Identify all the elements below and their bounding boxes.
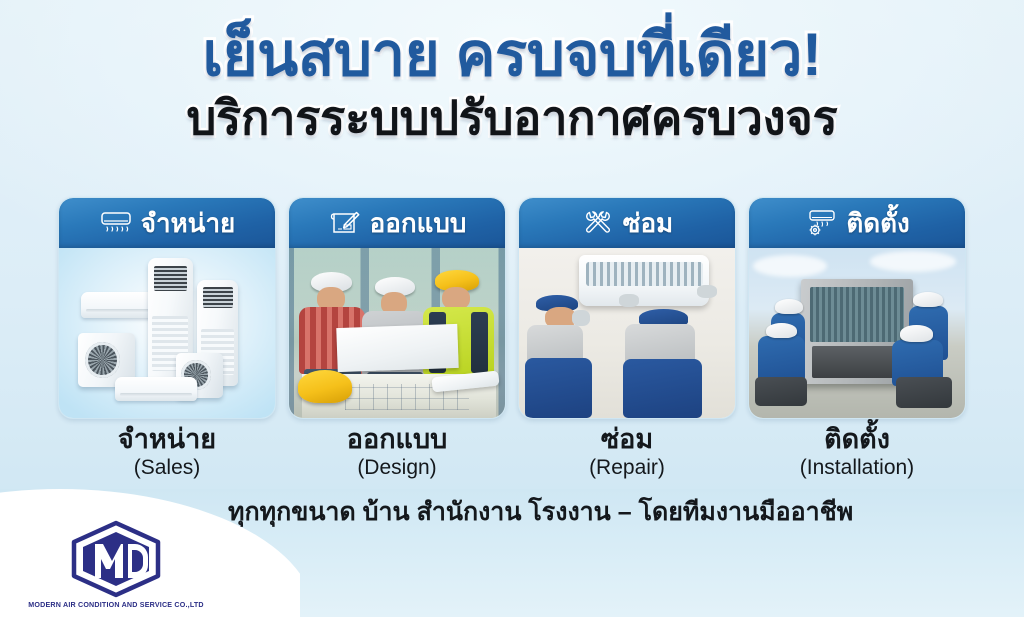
air-conditioner-gear-icon [804,208,838,238]
card-header-repair: ซ่อม [519,198,735,248]
service-card-installation[interactable]: ติดตั้ง [748,197,966,419]
card-header-design: ออกแบบ [289,198,505,248]
service-card-row: จำหน่าย [58,197,966,419]
company-name: MODERN AIR CONDITION AND SERVICE CO.,LTD [23,600,209,609]
caption-design: ออกแบบ (Design) [288,424,506,480]
caption-thai: ซ่อม [518,424,736,454]
caption-installation: ติดตั้ง (Installation) [748,424,966,480]
caption-row: จำหน่าย (Sales) ออกแบบ (Design) ซ่อม (Re… [58,424,966,480]
md-hexagon-logo-icon [18,520,214,598]
caption-sales: จำหน่าย (Sales) [58,424,276,480]
card-photo-repair [519,248,735,418]
card-header-label: ออกแบบ [370,210,467,236]
card-photo-installation [749,248,965,418]
company-logo: MODERN AIR CONDITION AND SERVICE CO.,LTD [18,520,214,609]
service-card-design[interactable]: ออกแบบ [288,197,506,419]
card-photo-design [289,248,505,418]
card-header-label: จำหน่าย [141,210,236,236]
blueprint-pencil-icon [328,208,362,238]
promotional-banner: เย็นสบาย ครบจบที่เดียว! บริการระบบปรับอา… [0,0,1024,617]
card-header-sales: จำหน่าย [59,198,275,248]
card-header-label: ซ่อม [623,210,673,236]
headline-primary: เย็นสบาย ครบจบที่เดียว! [0,24,1024,85]
caption-thai: จำหน่าย [58,424,276,454]
footer-tagline: ทุกทุกขนาด บ้าน สำนักงาน โรงงาน – โดยทีม… [228,498,998,527]
caption-thai: ติดตั้ง [748,424,966,454]
card-header-installation: ติดตั้ง [749,198,965,248]
wrench-screwdriver-icon [581,208,615,238]
caption-english: (Installation) [748,455,966,480]
caption-repair: ซ่อม (Repair) [518,424,736,480]
headline-secondary: บริการระบบปรับอากาศครบวงจร [0,93,1024,142]
card-header-label: ติดตั้ง [846,210,909,236]
air-conditioner-icon [99,208,133,238]
caption-english: (Design) [288,455,506,480]
service-card-repair[interactable]: ซ่อม [518,197,736,419]
service-card-sales[interactable]: จำหน่าย [58,197,276,419]
headline-block: เย็นสบาย ครบจบที่เดียว! บริการระบบปรับอา… [0,24,1024,143]
caption-english: (Repair) [518,455,736,480]
card-photo-sales [59,248,275,418]
caption-english: (Sales) [58,455,276,480]
caption-thai: ออกแบบ [288,424,506,454]
